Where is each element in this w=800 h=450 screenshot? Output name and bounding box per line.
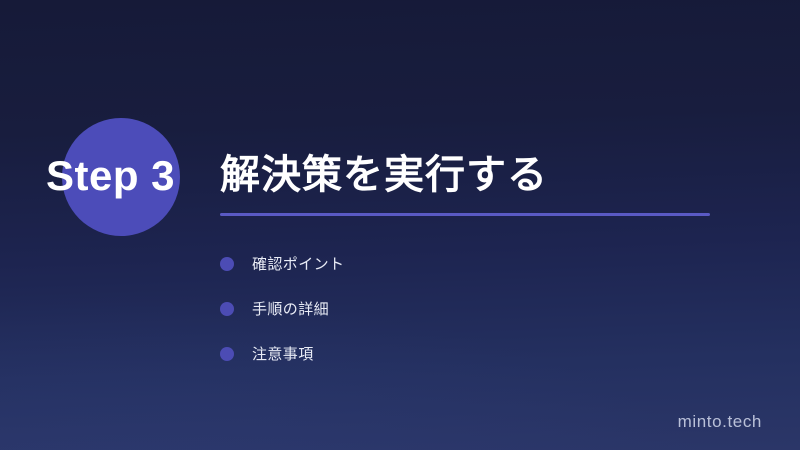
presentation-slide: Step 3 解決策を実行する 確認ポイント 手順の詳細 注意事項 minto.…	[0, 0, 800, 450]
bullet-dot-icon	[220, 302, 234, 316]
bullet-label: 手順の詳細	[252, 298, 329, 319]
slide-title: 解決策を実行する	[220, 142, 548, 200]
slide-content: Step 3 解決策を実行する 確認ポイント 手順の詳細 注意事項 minto.…	[0, 0, 800, 450]
bullet-list: 確認ポイント 手順の詳細 注意事項	[220, 241, 344, 376]
footer-brand: minto.tech	[678, 412, 762, 432]
title-divider	[220, 213, 710, 216]
bullet-dot-icon	[220, 347, 234, 361]
list-item: 手順の詳細	[220, 286, 344, 331]
bullet-label: 注意事項	[252, 343, 314, 364]
list-item: 確認ポイント	[220, 241, 344, 286]
step-badge-label: Step 3	[46, 150, 216, 202]
bullet-dot-icon	[220, 257, 234, 271]
list-item: 注意事項	[220, 331, 344, 376]
bullet-label: 確認ポイント	[252, 253, 344, 274]
